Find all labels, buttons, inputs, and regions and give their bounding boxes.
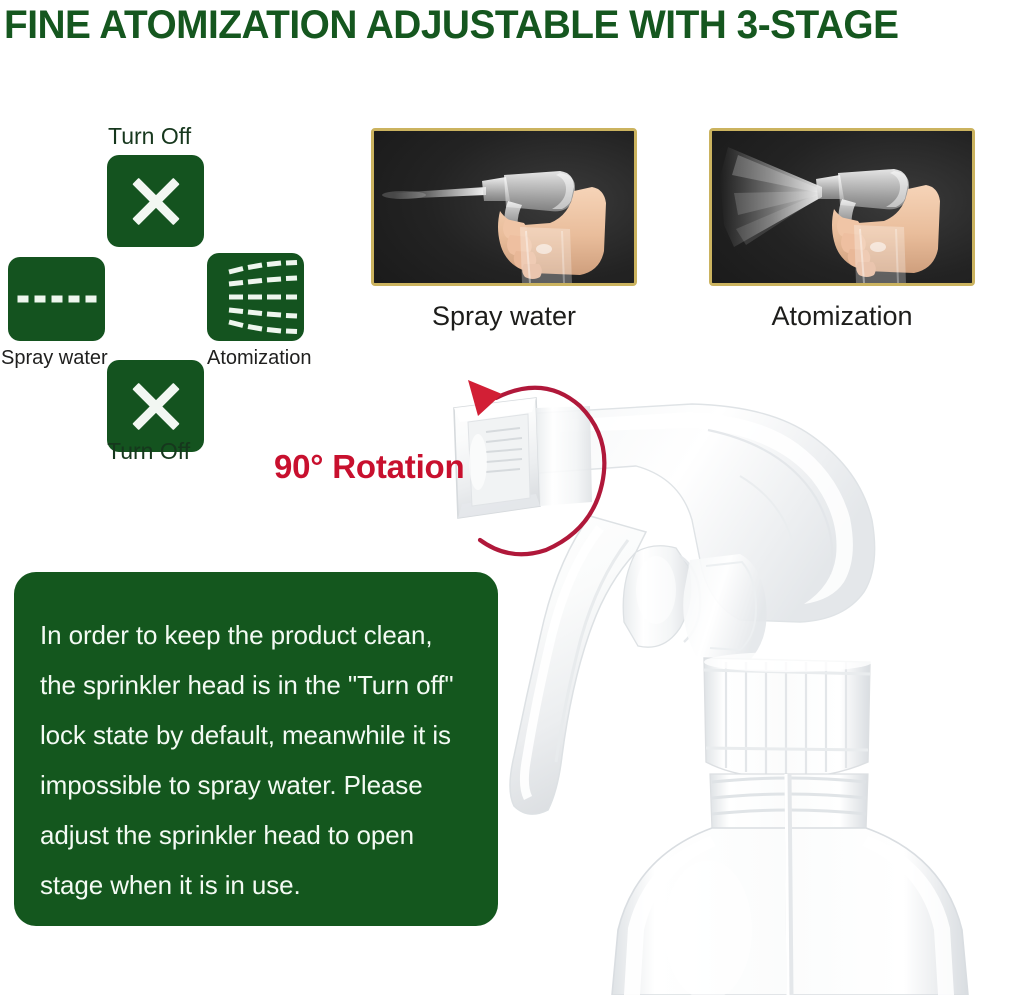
atomization-icon [207,253,304,341]
page-title: FINE ATOMIZATION ADJUSTABLE WITH 3-STAGE [4,2,979,50]
photo-caption-atomization: Atomization [709,300,975,332]
photo-caption-spray-water: Spray water [371,300,637,332]
cluster-label-atomization: Atomization [207,345,312,371]
photo-panel-spray-water [371,128,637,286]
cluster-label-spray-water: Spray water [1,345,108,371]
spray-water-icon [8,257,105,341]
dashed-stream-glyph [17,296,96,303]
cluster-label-turn-off-top: Turn Off [108,123,191,149]
spray-fan-glyph [207,253,304,341]
info-callout-text: In order to keep the product clean, the … [40,610,468,910]
photo-panel-atomization [709,128,975,286]
cluster-label-turn-off-bottom: Turn Off [107,438,190,464]
spray-water-photo-artwork [374,131,634,283]
spray-mode-icon-cluster: Turn Off [0,110,330,470]
circular-rotation-arrow-icon [452,372,622,557]
turn-off-icon-top [107,155,204,247]
atomization-photo-artwork [712,131,972,283]
rotation-label: 90° Rotation [274,448,464,486]
info-callout-box: In order to keep the product clean, the … [14,572,498,926]
